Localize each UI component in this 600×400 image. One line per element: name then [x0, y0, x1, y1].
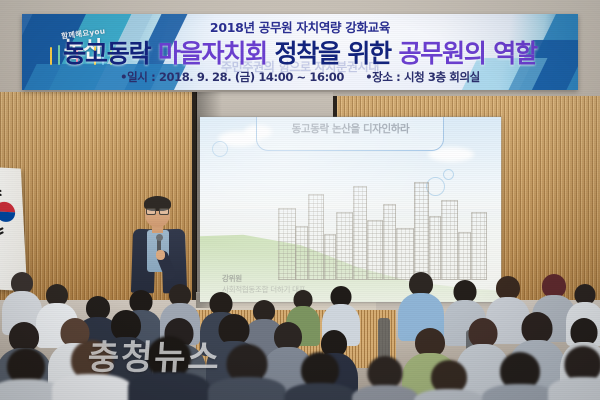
audience-person-foreground: [128, 336, 210, 400]
audience-person-foreground: [414, 360, 484, 400]
audience-person-foreground: [52, 340, 132, 400]
photo-canvas: 동고동락 논산을 디자인하라 강위원 사회적협동조합 더하기 대표: [0, 0, 600, 400]
audience: [0, 0, 600, 400]
audience-person-foreground: [208, 344, 286, 400]
audience-person-foreground: [352, 356, 418, 400]
audience-person-foreground: [284, 352, 356, 400]
audience-person-foreground: [482, 352, 558, 400]
audience-person-foreground: [548, 346, 600, 400]
